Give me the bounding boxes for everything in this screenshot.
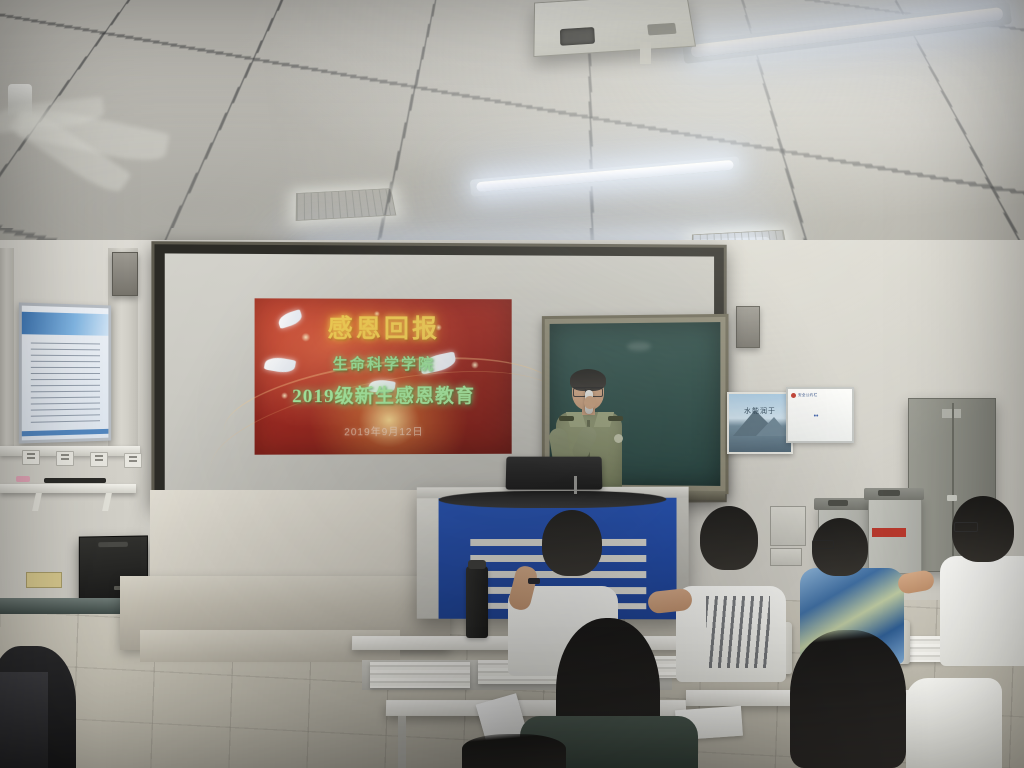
amplifier-handle	[98, 542, 128, 547]
wall-utility-panel	[770, 548, 802, 566]
projector-mount	[640, 42, 651, 64]
slide-title: 感恩回报	[255, 308, 512, 345]
ceiling-fan	[0, 84, 190, 194]
podium-monitor	[506, 457, 603, 490]
power-outlet[interactable]	[124, 453, 142, 468]
framed-regulations-notice	[19, 302, 111, 443]
poster-mountain-shape	[756, 417, 790, 436]
student-front-longhair-left	[462, 734, 566, 768]
student-front-longhair-right	[790, 630, 906, 768]
podium-desktop	[439, 491, 667, 508]
microphone-stand	[574, 476, 577, 494]
poster-caption: 水能润于	[729, 406, 791, 416]
power-outlet[interactable]	[22, 450, 40, 465]
wall-sign	[26, 572, 62, 588]
wall-edge-left	[0, 248, 14, 448]
bin-slot	[878, 490, 900, 496]
presenter-hand	[584, 396, 596, 409]
whiteboard-header: 安全公约栏	[791, 391, 849, 399]
bottle-cap	[468, 560, 486, 569]
whiteboard-scribble: ••	[814, 413, 819, 420]
projector-vent	[648, 23, 677, 35]
podium-side-panel	[417, 498, 439, 618]
notice-footer-band	[22, 429, 109, 436]
cabinet-lock-icon[interactable]	[947, 495, 957, 501]
chalk-smudge	[627, 342, 651, 351]
slide-subject: 2019级新生感恩教育	[255, 381, 512, 408]
wall-speaker-left	[112, 252, 138, 296]
tee-graphic-print	[706, 596, 770, 668]
emblem-icon	[791, 393, 796, 398]
notice-whiteboard: 安全公约栏 ••	[786, 387, 854, 443]
bin-label	[872, 528, 906, 537]
wristwatch-icon	[528, 578, 540, 584]
stacked-books	[370, 662, 470, 688]
uniform-epaulette	[608, 416, 623, 421]
slide-organization: 生命科学学院	[255, 353, 512, 374]
panel-light-1	[296, 188, 397, 221]
whiteboard-header-label: 安全公约栏	[798, 393, 817, 398]
wall-speaker-right	[736, 306, 760, 348]
student-front-right-shirt	[906, 678, 1002, 768]
wall-utility-panel	[770, 506, 806, 546]
glasses-icon	[954, 522, 978, 532]
student-far-right-white	[940, 556, 1024, 666]
student-head	[700, 506, 758, 570]
glasses-icon	[812, 540, 834, 549]
notice-text-lines	[31, 342, 100, 425]
notice-header-band	[22, 312, 109, 336]
power-outlet[interactable]	[90, 452, 108, 467]
presentation-slide: 感恩回报 生命科学学院 2019级新生感恩教育 2019年9月12日	[255, 298, 512, 454]
wall-shelf-lower	[0, 484, 136, 493]
student-head	[542, 510, 602, 576]
bin-slot	[828, 500, 848, 506]
student-left-edge-body	[0, 672, 48, 768]
desk-leg	[398, 716, 406, 768]
uniform-badge	[614, 434, 623, 443]
slide-date: 2019年9月12日	[255, 423, 512, 439]
power-outlet[interactable]	[56, 451, 74, 466]
water-bottle-black	[466, 566, 488, 638]
cable-on-shelf	[44, 478, 106, 483]
small-object-on-shelf	[16, 476, 30, 482]
landscape-poster: 水能润于	[727, 392, 793, 454]
classroom-photo: 感恩回报 生命科学学院 2019级新生感恩教育 2019年9月12日 水能润于 …	[0, 0, 1024, 768]
projector-lens-icon	[560, 27, 595, 45]
uniform-epaulette	[559, 416, 574, 421]
